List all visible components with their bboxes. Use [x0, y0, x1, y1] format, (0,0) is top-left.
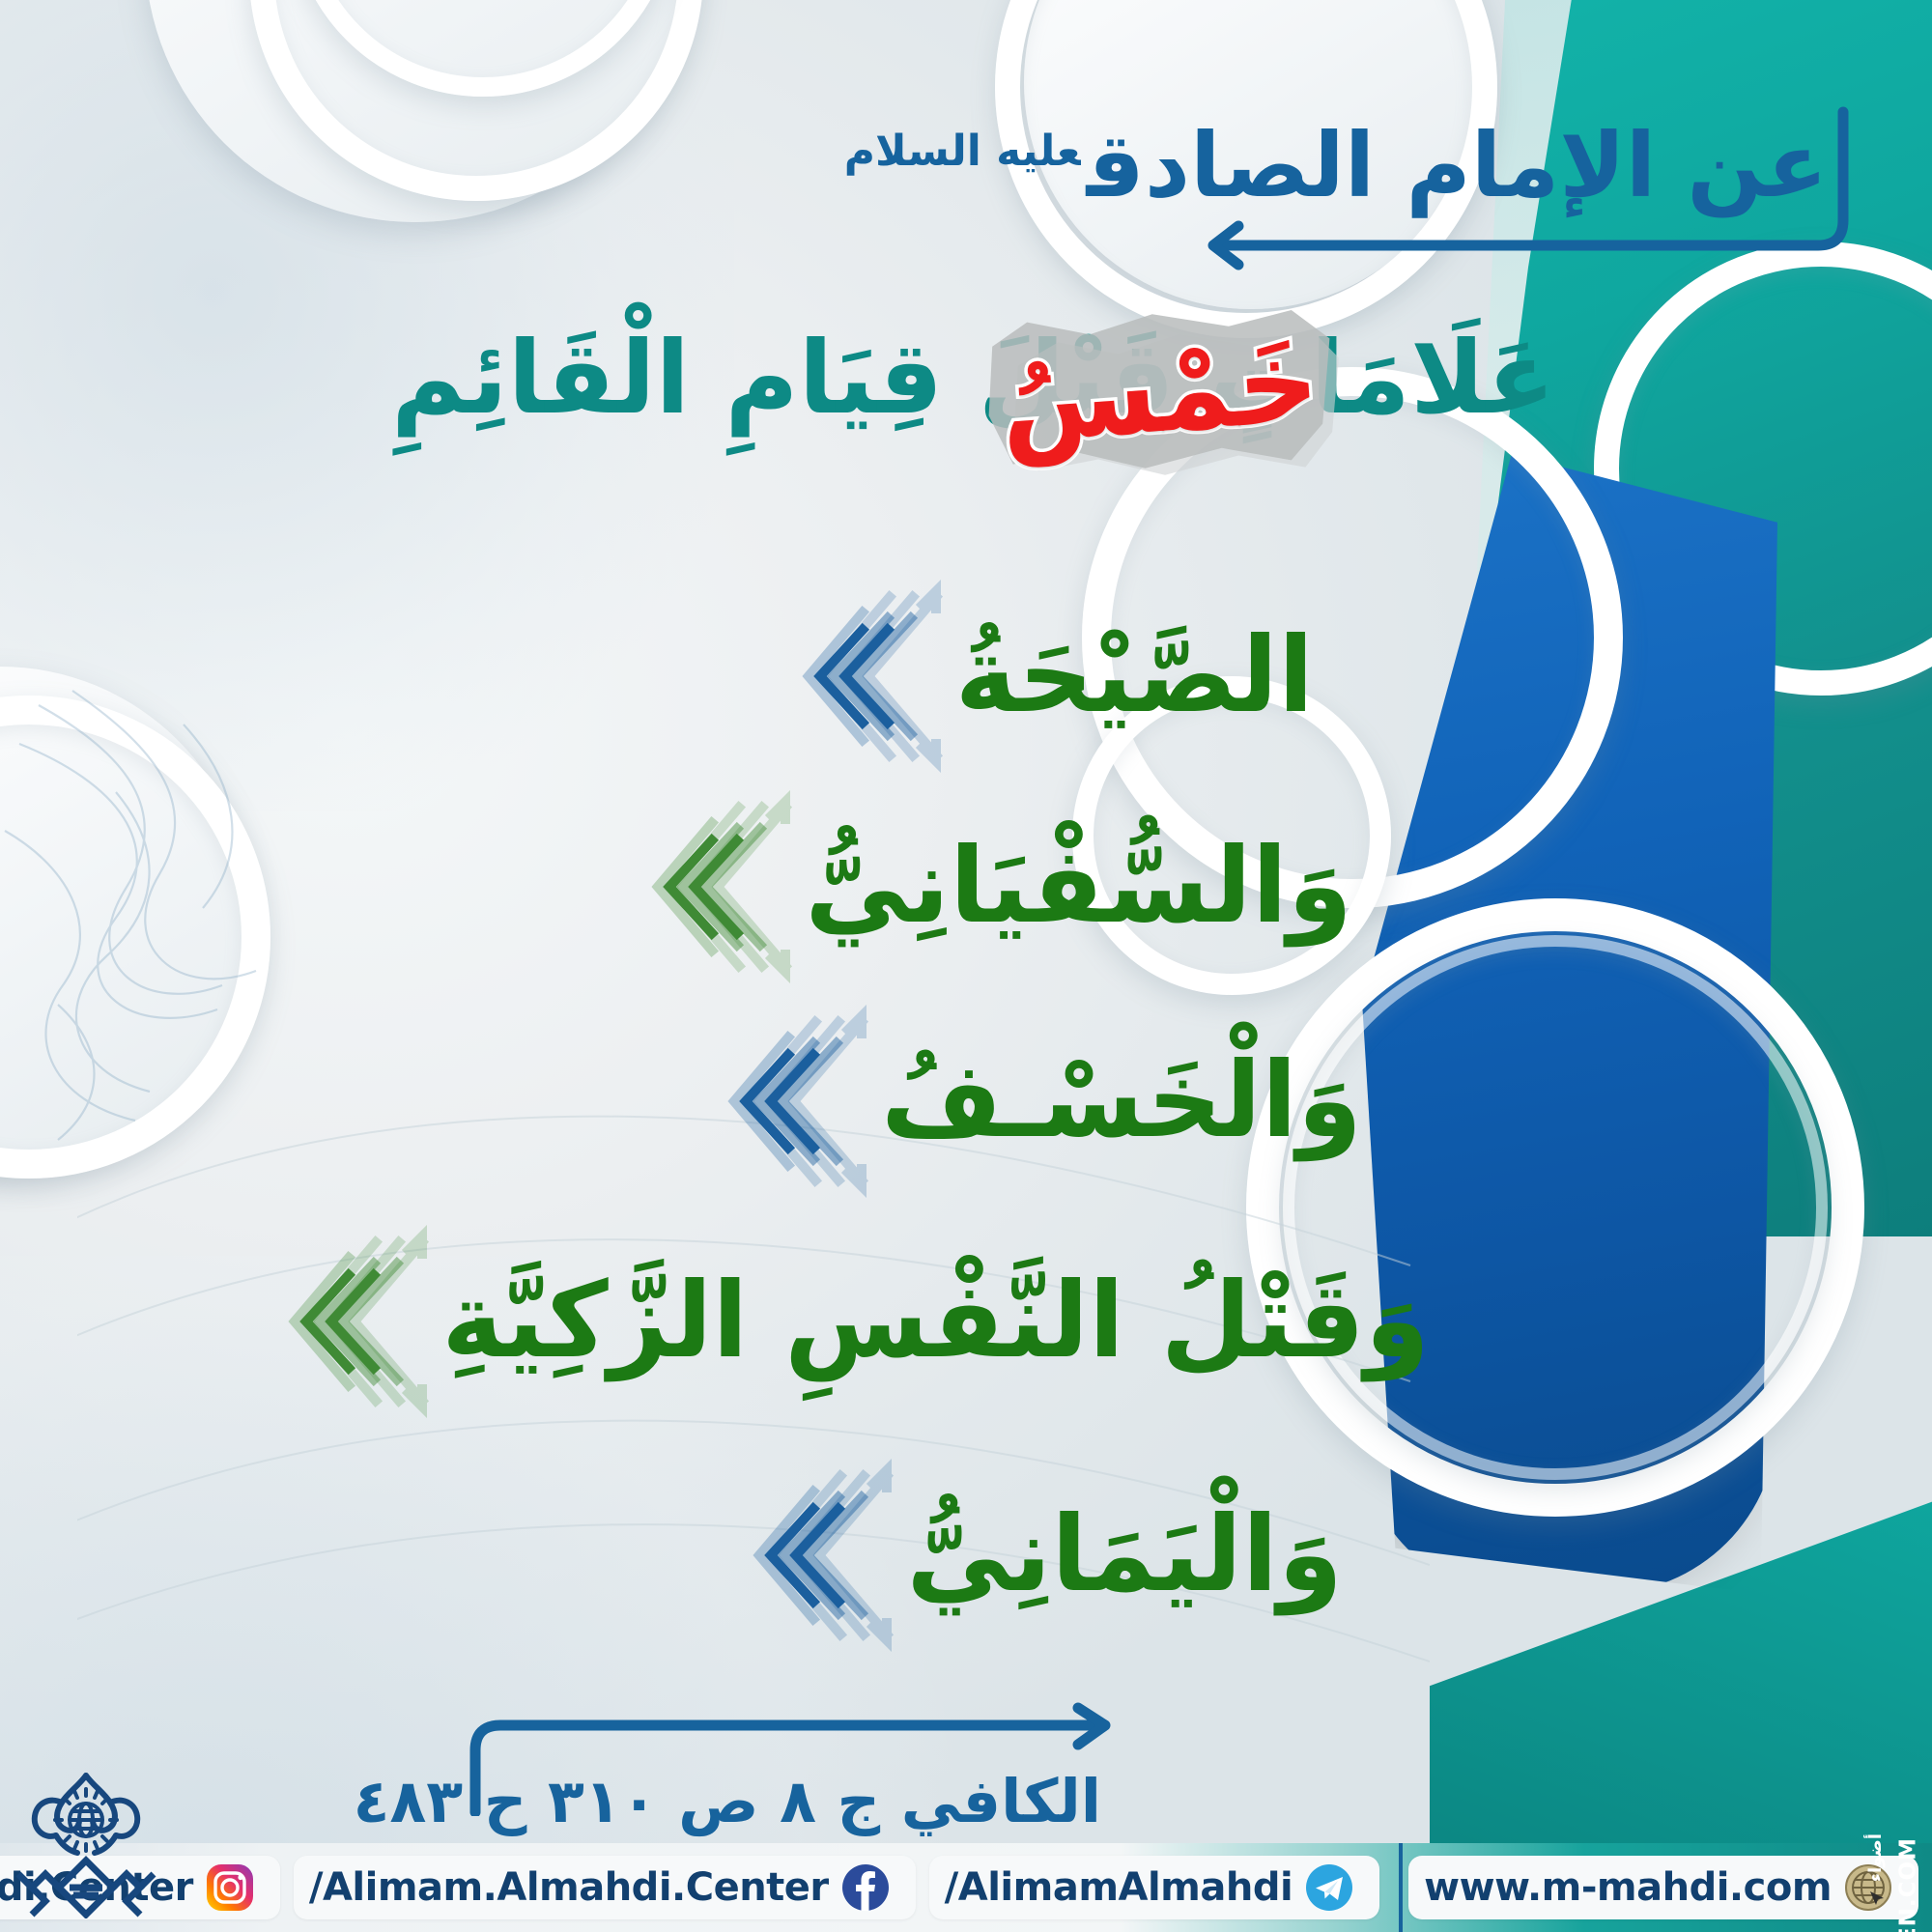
list-item: الصَّيْحَةُ [704, 580, 1314, 773]
header-block: عن الإمام الصادقعليه السلام [628, 114, 1845, 307]
highlight-word-block: خَمْسُ [985, 290, 1333, 493]
double-chevron-left-icon [219, 1225, 441, 1418]
sign-label-1: الصَّيْحَةُ [955, 621, 1314, 730]
double-chevron-left-icon [582, 790, 805, 983]
watermark-arabic: أضواء [1865, 1833, 1886, 1882]
list-item: وَالسُّفْيَانِيُّ [554, 790, 1352, 983]
double-chevron-left-icon [684, 1459, 906, 1652]
footer-link-telegram[interactable]: /AlimamAlmahdi [929, 1856, 1380, 1919]
almahdi-center-logo-icon [14, 1764, 158, 1918]
list-item: وَالْخَسْـفُ [630, 1005, 1362, 1198]
telegram-icon [1304, 1862, 1354, 1913]
sign-label-3: وَالْخَسْـفُ [881, 1046, 1362, 1155]
page-title: عن الإمام الصادقعليه السلام [844, 114, 1828, 217]
sign-label-2: وَالسُّفْيَانِيُّ [805, 832, 1352, 941]
source-citation-block: الكافي ج ٨ ص ٣١٠ ح ٤٨٣ [444, 1700, 1140, 1864]
watermark-site: AL-MUHSEN.COM [1895, 1837, 1920, 1932]
footer-link-facebook[interactable]: /Alimam.Almahdi.Center [294, 1856, 916, 1919]
list-item: وَالْيَمَانِيُّ [655, 1459, 1343, 1652]
double-chevron-left-icon [733, 580, 955, 773]
footer-bar: www.m-mahdi.com /AlimamAlmahdi /Alimam.A… [0, 1843, 1932, 1932]
facebook-icon [840, 1862, 891, 1913]
footer-divider [1399, 1843, 1403, 1932]
white-ring-left-decoration [0, 696, 270, 1179]
footer-link-website-label: www.m-mahdi.com [1424, 1865, 1832, 1910]
footer-link-website[interactable]: www.m-mahdi.com [1408, 1856, 1918, 1919]
watermark-block: AL-MUHSEN.COM أضواء [1864, 1650, 1928, 1843]
footer-link-telegram-label: /AlimamAlmahdi [945, 1865, 1293, 1910]
poster-canvas: عن الإمام الصادقعليه السلام عَلَامَاتٍ ق… [0, 0, 1932, 1932]
sign-label-5: وَالْيَمَانِيُّ [906, 1500, 1343, 1609]
instagram-icon [205, 1862, 255, 1913]
footer-link-facebook-label: /Alimam.Almahdi.Center [309, 1865, 829, 1910]
footer-links-container: www.m-mahdi.com /AlimamAlmahdi /Alimam.A… [0, 1843, 1932, 1932]
list-item: وَقَتْلُ النَّفْسِ الزَّكِيَّةِ [190, 1225, 1430, 1418]
source-citation: الكافي ج ٨ ص ٣١٠ ح ٤٨٣ [354, 1766, 1101, 1836]
highlight-word: خَمْسُ [979, 278, 1340, 505]
double-chevron-left-icon [659, 1005, 881, 1198]
narrator-label: عن الإمام الصادق [1087, 114, 1828, 217]
sign-label-4: وَقَتْلُ النَّفْسِ الزَّكِيَّةِ [441, 1266, 1430, 1376]
honorific-label: عليه السلام [844, 127, 1081, 176]
